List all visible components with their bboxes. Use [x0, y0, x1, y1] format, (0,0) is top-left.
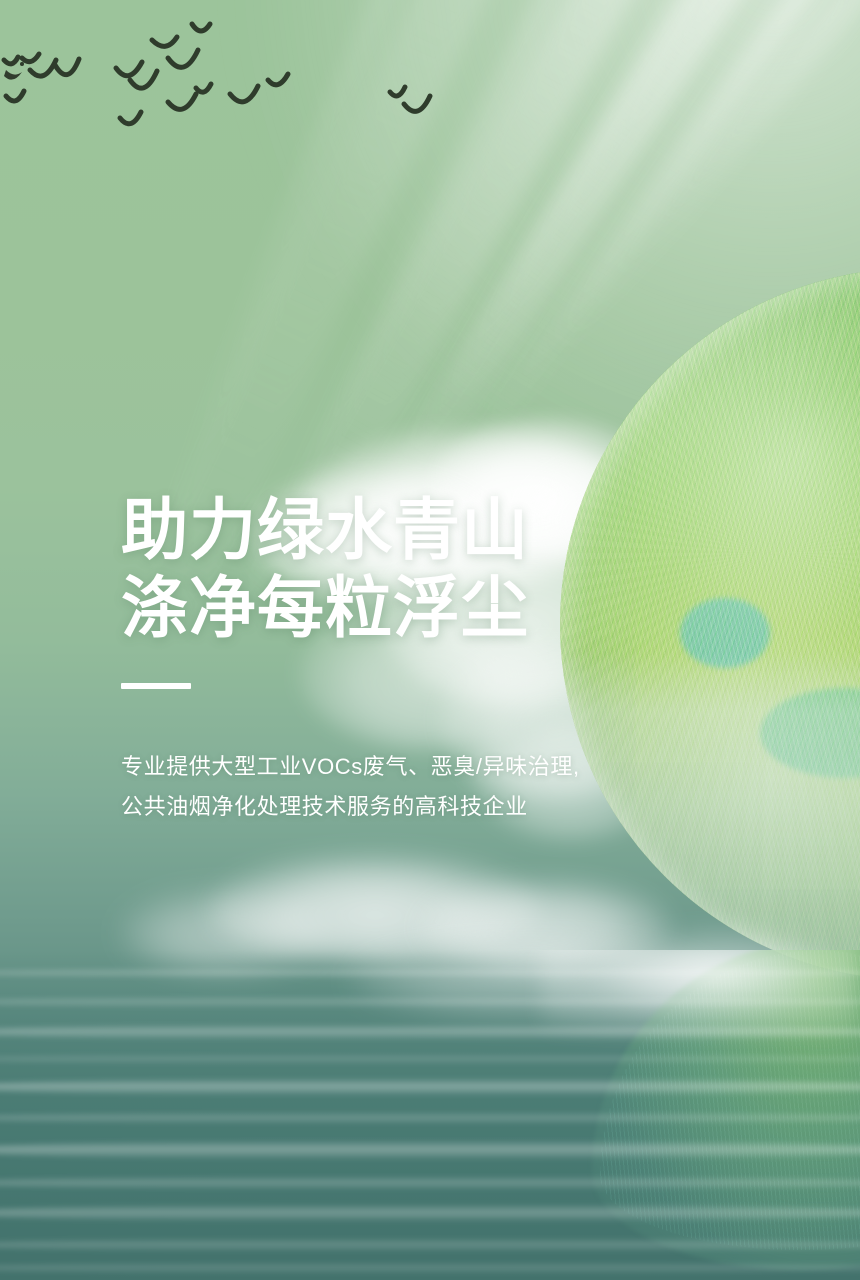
headline: 助力绿水青山 涤净每粒浮尘: [121, 492, 681, 647]
subcopy-line-2: 公共油烟净化处理技术服务的高科技企业: [121, 787, 681, 827]
headline-divider: [121, 683, 191, 689]
water-ripple: [0, 968, 860, 978]
water-ripple: [0, 1262, 860, 1274]
headline-line-1: 助力绿水青山: [121, 492, 681, 570]
water-ripple: [0, 1024, 860, 1040]
water-ripple: [0, 1054, 860, 1064]
water-ripple: [0, 1078, 860, 1096]
bird-icon: [4, 70, 22, 80]
water-ripple: [0, 1140, 860, 1160]
water-ripple: [0, 1204, 860, 1222]
water-ripple: [0, 1176, 860, 1190]
copy-block: 助力绿水青山 涤净每粒浮尘 专业提供大型工业VOCs废气、恶臭/异味治理, 公共…: [121, 492, 681, 828]
mist-wisp: [210, 855, 540, 965]
birds-flock: [0, 0, 470, 150]
headline-line-2: 涤净每粒浮尘: [121, 570, 681, 648]
water-ripple: [0, 1238, 860, 1252]
subcopy: 专业提供大型工业VOCs废气、恶臭/异味治理, 公共油烟净化处理技术服务的高科技…: [121, 747, 681, 827]
subcopy-line-1: 专业提供大型工业VOCs废气、恶臭/异味治理,: [121, 747, 681, 787]
water-ripple: [0, 1112, 860, 1124]
water-mist: [540, 950, 860, 1034]
water-ripple: [0, 996, 860, 1008]
poster-canvas: 助力绿水青山 涤净每粒浮尘 专业提供大型工业VOCs废气、恶臭/异味治理, 公共…: [0, 0, 860, 1280]
water-surface: [0, 950, 860, 1280]
